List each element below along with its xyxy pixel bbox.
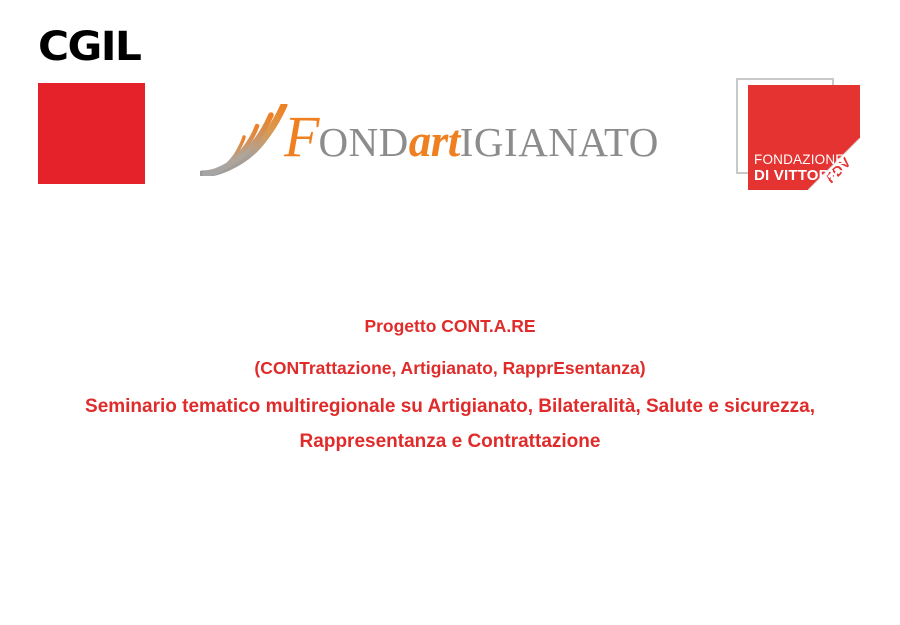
slide-title-block: Progetto CONT.A.RE (CONTrattazione, Arti… [0,305,900,459]
fondartigianato-logo: FONDartIGIANATO [200,100,670,180]
fondartigianato-wordmark: FONDartIGIANATO [284,106,659,168]
fondartigianato-text-ond: OND [318,119,408,165]
title-line-seminar-description-2: Rappresentanza e Contrattazione [0,425,900,459]
title-line-seminar-description-1: Seminario tematico multiregionale su Art… [0,389,900,425]
presentation-slide: CGIL FOND [0,0,900,625]
fondartigianato-text-art: art [409,116,460,166]
title-line-project-expansion: (CONTrattazione, Artigianato, RapprEsent… [0,347,900,389]
fondartigianato-letter-f: F [284,104,318,169]
cgil-logo: CGIL [38,26,148,186]
fdv-caption: FONDAZIONE DI VITTORIO [754,152,856,184]
cgil-red-square-icon [38,83,145,184]
title-line-project-name: Progetto CONT.A.RE [0,305,900,347]
fondartigianato-text-igianato: IGIANATO [460,119,659,165]
fondazione-di-vittorio-logo: FDV FONDAZIONE DI VITTORIO [736,56,864,192]
fdv-caption-line-1: FONDAZIONE [754,152,856,167]
cgil-wordmark-text: CGIL [38,26,155,68]
fdv-caption-line-2: DI VITTORIO [754,167,856,184]
fondartigianato-swoosh-icon [200,104,296,176]
